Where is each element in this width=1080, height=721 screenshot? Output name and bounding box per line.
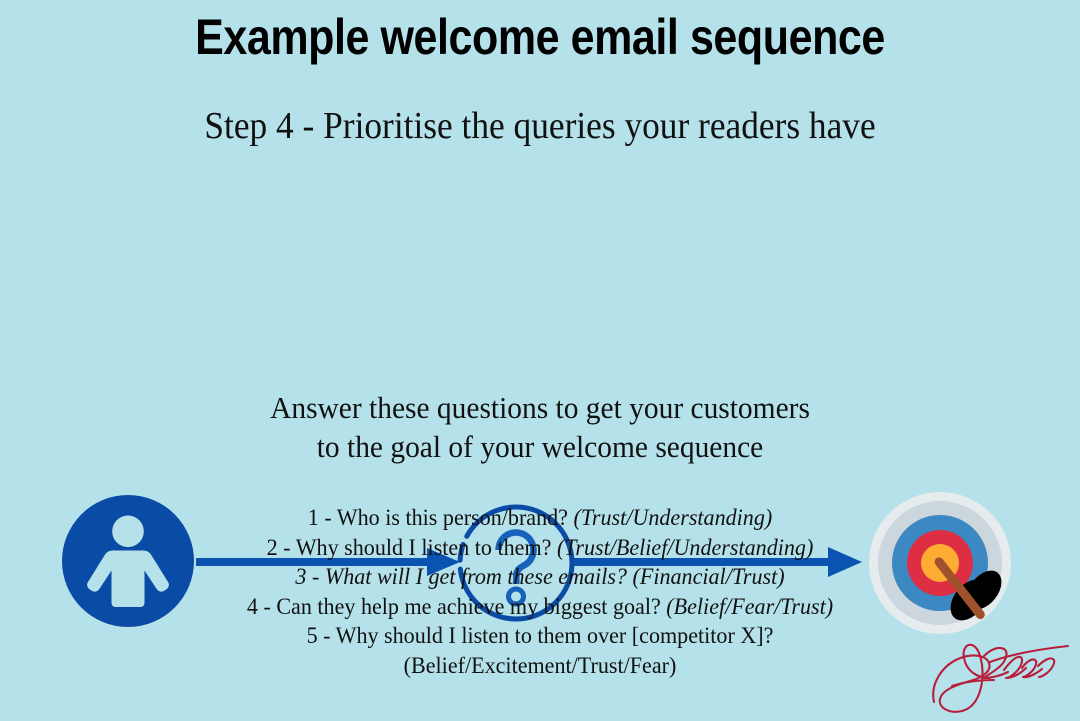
question-tag: (Trust/Understanding): [573, 505, 772, 530]
question-list: 1 - Who is this person/brand? (Trust/Und…: [22, 503, 1059, 680]
question-text: 2 - Why should I listen to them?: [267, 535, 557, 560]
question-text: 3 - What will I get from these emails?: [295, 564, 632, 589]
question-list-item: (Belief/Excitement/Trust/Fear): [22, 651, 1059, 681]
body-copy-line-1: Answer these questions to get your custo…: [27, 388, 1053, 427]
question-text: 5 - Why should I listen to them over [co…: [307, 623, 774, 648]
question-text: 1 - Who is this person/brand?: [308, 505, 574, 530]
question-list-item: 4 - Can they help me achieve my biggest …: [22, 592, 1059, 622]
question-list-item: 3 - What will I get from these emails? (…: [22, 562, 1059, 592]
signature-mark: [928, 626, 1074, 716]
slide-canvas: Example welcome email sequence Step 4 - …: [0, 0, 1080, 720]
page-subtitle: Step 4 - Prioritise the queries your rea…: [38, 104, 1042, 148]
question-tag: (Financial/Trust): [632, 564, 784, 589]
question-text: 4 - Can they help me achieve my biggest …: [247, 594, 666, 619]
question-tag: (Trust/Belief/Understanding): [557, 535, 813, 560]
body-copy-line-2: to the goal of your welcome sequence: [27, 427, 1053, 466]
question-list-item: 1 - Who is this person/brand? (Trust/Und…: [22, 503, 1059, 533]
question-list-item: 2 - Why should I listen to them? (Trust/…: [22, 533, 1059, 563]
page-title: Example welcome email sequence: [76, 8, 1005, 66]
question-list-item: 5 - Why should I listen to them over [co…: [22, 621, 1059, 651]
question-tag: (Belief/Fear/Trust): [666, 594, 833, 619]
question-text: (Belief/Excitement/Trust/Fear): [404, 653, 677, 678]
diagram-flow: [0, 243, 1080, 403]
body-copy: Answer these questions to get your custo…: [27, 388, 1053, 466]
